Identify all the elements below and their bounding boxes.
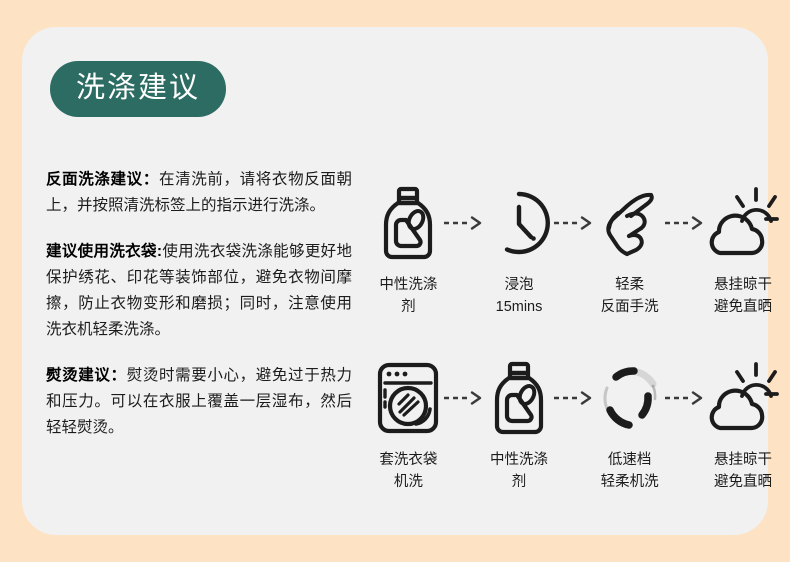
flow-step-neutral-detergent-2: 中性洗涤剂 bbox=[485, 357, 554, 493]
flow-step-label: 悬挂晾干 避免直晒 bbox=[714, 449, 772, 493]
flow-step-laundry-bag-machine: 套洗衣袋 机洗 bbox=[374, 357, 443, 493]
sun-cloud-dry-icon bbox=[706, 357, 780, 439]
washing-machine-icon bbox=[374, 357, 442, 439]
sun-cloud-dry-icon bbox=[706, 182, 780, 264]
flow-step-label: 低速档 轻柔机洗 bbox=[601, 449, 659, 493]
dashed-arrow-icon bbox=[443, 182, 485, 264]
flow-step-label: 浸泡 15mins bbox=[496, 274, 543, 318]
dashed-arrow-icon bbox=[553, 357, 595, 439]
flow-step-label: 轻柔 反面手洗 bbox=[601, 274, 659, 318]
flow-step-label: 中性洗涤剂 bbox=[374, 274, 443, 318]
paragraph-lead-reverse-wash: 反面洗涤建议： bbox=[46, 171, 159, 188]
advice-paragraph-ironing: 熨烫建议：熨烫时需要小心，避免过于热力和压力。可以在衣服上覆盖一层湿布，然后轻轻… bbox=[46, 363, 352, 441]
flow-step-label: 悬挂晾干 避免直晒 bbox=[714, 274, 772, 318]
advice-text-column: 反面洗涤建议：在清洗前，请将衣物反面朝上，并按照清洗标签上的指示进行洗涤。 建议… bbox=[46, 167, 352, 441]
machine-wash-flow: 套洗衣袋 机洗 中性洗涤剂 bbox=[374, 357, 780, 493]
spin-cycle-icon bbox=[598, 357, 662, 439]
dashed-arrow-icon bbox=[443, 357, 485, 439]
page-title: 洗涤建议 bbox=[76, 71, 200, 105]
advice-paragraph-laundry-bag: 建议使用洗衣袋:使用洗衣袋洗涤能够更好地保护绣花、印花等装饰部位，避免衣物间摩擦… bbox=[46, 239, 352, 343]
clock-icon bbox=[486, 182, 552, 264]
paragraph-lead-ironing: 熨烫建议： bbox=[46, 367, 127, 384]
detergent-bottle-icon bbox=[491, 357, 547, 439]
flow-step-low-speed-gentle: 低速档 轻柔机洗 bbox=[595, 357, 664, 493]
hand-icon bbox=[599, 182, 661, 264]
flow-step-label: 中性洗涤剂 bbox=[485, 449, 554, 493]
dashed-arrow-icon bbox=[664, 182, 706, 264]
flow-step-hang-dry-1: 悬挂晾干 避免直晒 bbox=[706, 182, 780, 318]
paragraph-lead-laundry-bag: 建议使用洗衣袋: bbox=[46, 243, 162, 260]
page-root: 洗涤建议 反面洗涤建议：在清洗前，请将衣物反面朝上，并按照清洗标签上的指示进行洗… bbox=[0, 0, 790, 562]
dashed-arrow-icon bbox=[664, 357, 706, 439]
dashed-arrow-icon bbox=[553, 182, 595, 264]
flow-step-soak: 浸泡 15mins bbox=[485, 182, 554, 318]
detergent-bottle-icon bbox=[380, 182, 436, 264]
advice-paragraph-reverse-wash: 反面洗涤建议：在清洗前，请将衣物反面朝上，并按照清洗标签上的指示进行洗涤。 bbox=[46, 167, 352, 219]
page-title-badge: 洗涤建议 bbox=[50, 61, 226, 117]
flow-step-gentle-hand-wash: 轻柔 反面手洗 bbox=[595, 182, 664, 318]
flow-step-hang-dry-2: 悬挂晾干 避免直晒 bbox=[706, 357, 780, 493]
flow-step-label: 套洗衣袋 机洗 bbox=[379, 449, 437, 493]
hand-wash-flow: 中性洗涤剂 浸泡 15mins bbox=[374, 182, 780, 318]
advice-card: 洗涤建议 反面洗涤建议：在清洗前，请将衣物反面朝上，并按照清洗标签上的指示进行洗… bbox=[22, 27, 768, 535]
flow-step-neutral-detergent-1: 中性洗涤剂 bbox=[374, 182, 443, 318]
